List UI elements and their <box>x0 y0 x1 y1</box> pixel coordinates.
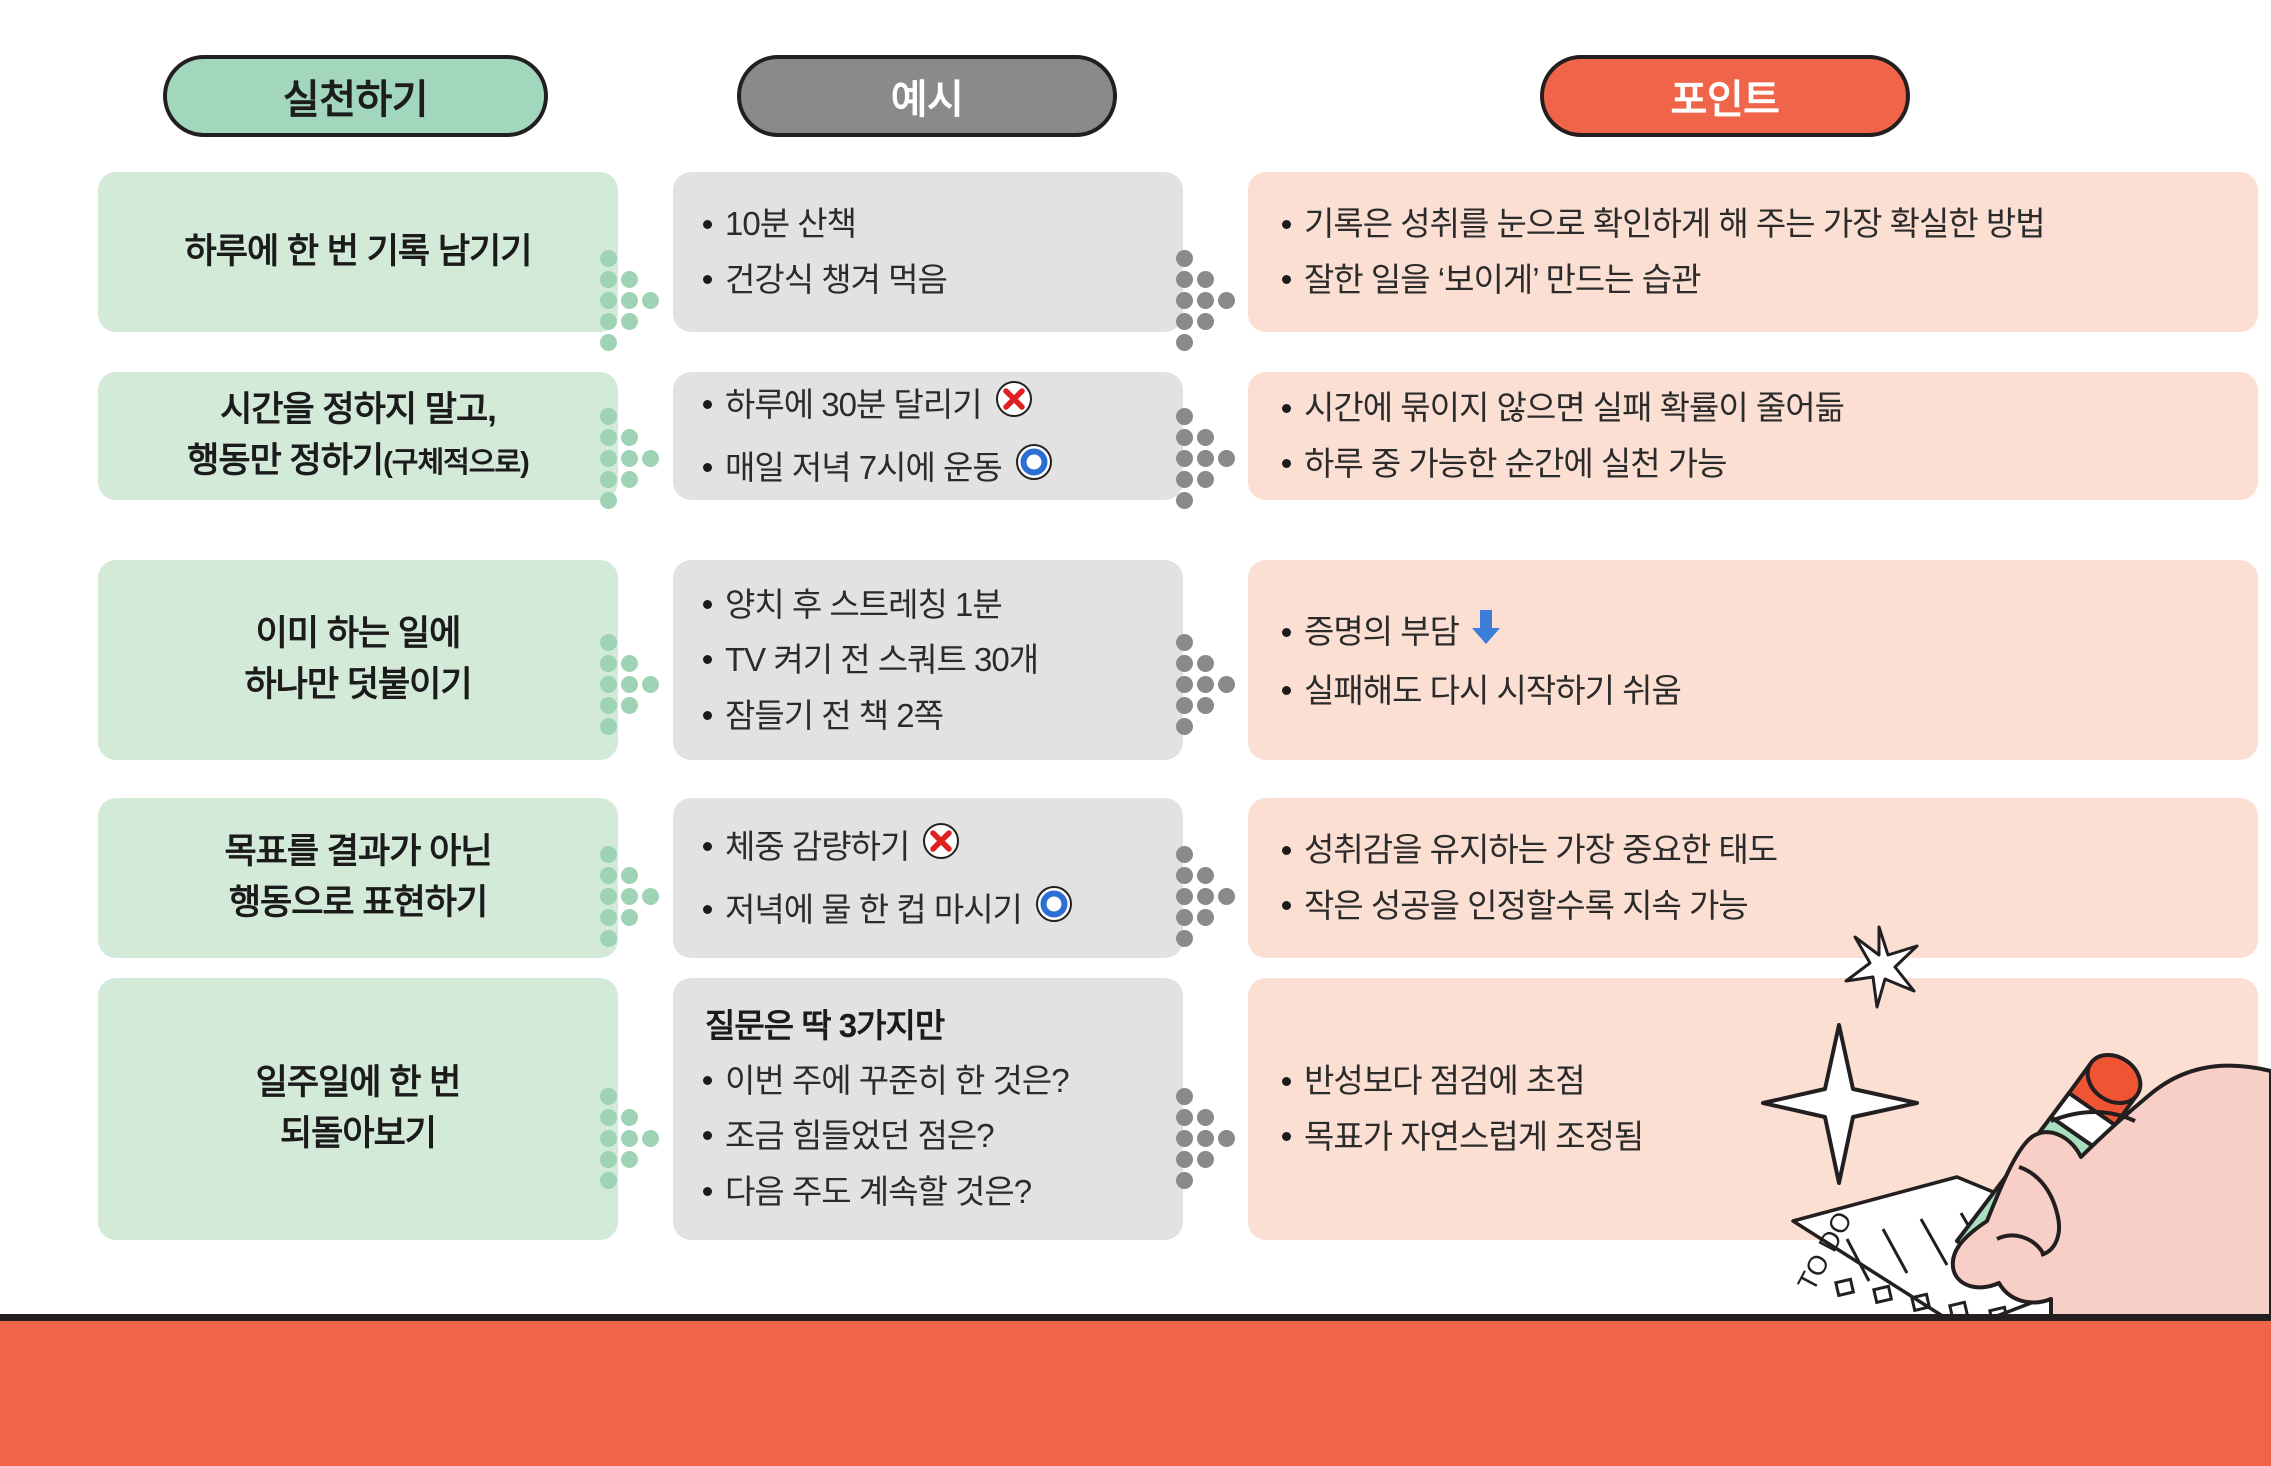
example-list-item-text: 다음 주도 계속할 것은? <box>725 1170 1031 1214</box>
bullet-icon <box>703 220 712 229</box>
x-mark-icon <box>921 821 961 872</box>
bullet-icon <box>703 905 712 914</box>
row: 목표를 결과가 아닌행동으로 표현하기체중 감량하기저녁에 물 한 컵 마시기성… <box>0 798 2271 958</box>
bullet-icon <box>703 842 712 851</box>
practice-line-2: 행동만 정하기 <box>187 441 383 480</box>
example-card[interactable]: 하루에 30분 달리기매일 저녁 7시에 운동 <box>673 372 1183 500</box>
bullet-icon <box>1282 628 1291 637</box>
bullet-icon <box>1282 459 1291 468</box>
point-list-item-text: 목표가 자연스럽게 조정됨 <box>1304 1115 1643 1159</box>
practice-line-2: 하나만 덧붙이기 <box>244 665 471 704</box>
point-list-item-text: 기록은 성취를 눈으로 확인하게 해 주는 가장 확실한 방법 <box>1304 202 2045 246</box>
bullet-icon <box>703 1131 712 1140</box>
example-list-item-text: 양치 후 스트레칭 1분 <box>725 583 1002 627</box>
connector-dots-example-to-point <box>1176 250 1232 354</box>
footer-bar <box>0 1314 2271 1466</box>
point-list-item: 반성보다 점검에 초점 <box>1282 1059 2224 1103</box>
point-list-item: 증명의 부담 <box>1282 608 2224 657</box>
row: 일주일에 한 번되돌아보기질문은 딱 3가지만이번 주에 꾸준히 한 것은?조금… <box>0 978 2271 1240</box>
point-list-item-text: 증명의 부담 <box>1304 610 1459 654</box>
example-list-item: 건강식 챙겨 먹음 <box>703 258 1153 302</box>
practice-card[interactable]: 일주일에 한 번되돌아보기 <box>98 978 618 1240</box>
row: 시간을 정하지 말고,행동만 정하기(구체적으로)하루에 30분 달리기매일 저… <box>0 372 2271 500</box>
example-list-item: 잠들기 전 책 2쪽 <box>703 694 1153 738</box>
example-list-item: 다음 주도 계속할 것은? <box>703 1170 1153 1214</box>
practice-card[interactable]: 하루에 한 번 기록 남기기 <box>98 172 618 332</box>
bullet-icon <box>703 400 712 409</box>
x-mark-icon <box>994 379 1034 430</box>
practice-line-1: 시간을 정하지 말고, <box>220 390 496 429</box>
example-list-item: 매일 저녁 7시에 운동 <box>703 442 1153 493</box>
example-card[interactable]: 양치 후 스트레칭 1분TV 켜기 전 스쿼트 30개잠들기 전 책 2쪽 <box>673 560 1183 760</box>
example-card[interactable]: 10분 산책건강식 챙겨 먹음 <box>673 172 1183 332</box>
example-list-item: 양치 후 스트레칭 1분 <box>703 583 1153 627</box>
point-card[interactable]: 증명의 부담실패해도 다시 시작하기 쉬움 <box>1248 560 2258 760</box>
bullet-icon <box>1282 1132 1291 1141</box>
bullet-icon <box>1282 686 1291 695</box>
practice-sub: (구체적으로) <box>383 447 529 479</box>
connector-dots-practice-to-example <box>600 408 656 512</box>
point-list-item-text: 하루 중 가능한 순간에 실천 가능 <box>1304 442 1727 486</box>
example-list-item-text: 하루에 30분 달리기 <box>725 383 982 427</box>
point-list-item-text: 시간에 묶이지 않으면 실패 확률이 줄어듦 <box>1304 386 1844 430</box>
connector-dots-practice-to-example <box>600 1088 656 1192</box>
practice-card[interactable]: 시간을 정하지 말고,행동만 정하기(구체적으로) <box>98 372 618 500</box>
practice-card[interactable]: 이미 하는 일에하나만 덧붙이기 <box>98 560 618 760</box>
practice-card-text: 목표를 결과가 아닌행동으로 표현하기 <box>224 827 491 929</box>
point-list-item: 작은 성공을 인정할수록 지속 가능 <box>1282 884 2224 928</box>
example-list-item-text: 조금 힘들었던 점은? <box>725 1114 994 1158</box>
bullet-icon <box>1282 220 1291 229</box>
rows-container: 하루에 한 번 기록 남기기10분 산책건강식 챙겨 먹음기록은 성취를 눈으로… <box>0 0 2271 1300</box>
bullet-icon <box>703 1187 712 1196</box>
practice-card[interactable]: 목표를 결과가 아닌행동으로 표현하기 <box>98 798 618 958</box>
bullet-icon <box>1282 901 1291 910</box>
point-card[interactable]: 반성보다 점검에 초점목표가 자연스럽게 조정됨 <box>1248 978 2258 1240</box>
bullet-icon <box>703 711 712 720</box>
example-list-item-text: 매일 저녁 7시에 운동 <box>725 446 1002 490</box>
bullet-icon <box>703 655 712 664</box>
point-list-item-text: 실패해도 다시 시작하기 쉬움 <box>1304 669 1681 713</box>
bullet-icon <box>703 600 712 609</box>
point-card[interactable]: 기록은 성취를 눈으로 확인하게 해 주는 가장 확실한 방법잘한 일을 ‘보이… <box>1248 172 2258 332</box>
example-list-item: 조금 힘들었던 점은? <box>703 1114 1153 1158</box>
practice-line-1: 이미 하는 일에 <box>256 614 461 653</box>
connector-dots-example-to-point <box>1176 408 1232 512</box>
point-list-item: 목표가 자연스럽게 조정됨 <box>1282 1115 2224 1159</box>
example-list-item-text: 저녁에 물 한 컵 마시기 <box>725 888 1022 932</box>
point-list-item: 시간에 묶이지 않으면 실패 확률이 줄어듦 <box>1282 386 2224 430</box>
example-list-item: 저녁에 물 한 컵 마시기 <box>703 884 1153 935</box>
point-list-item-text: 성취감을 유지하는 가장 중요한 태도 <box>1304 828 1777 872</box>
row: 하루에 한 번 기록 남기기10분 산책건강식 챙겨 먹음기록은 성취를 눈으로… <box>0 172 2271 332</box>
point-list-item: 기록은 성취를 눈으로 확인하게 해 주는 가장 확실한 방법 <box>1282 202 2224 246</box>
connector-dots-practice-to-example <box>600 634 656 738</box>
practice-line-1: 목표를 결과가 아닌 <box>224 832 491 871</box>
bullet-icon <box>1282 404 1291 413</box>
example-list-item: 체중 감량하기 <box>703 821 1153 872</box>
point-list-item: 하루 중 가능한 순간에 실천 가능 <box>1282 442 2224 486</box>
point-card[interactable]: 시간에 묶이지 않으면 실패 확률이 줄어듦하루 중 가능한 순간에 실천 가능 <box>1248 372 2258 500</box>
example-list-item-text: 10분 산책 <box>725 202 856 246</box>
practice-line-2: 행동으로 표현하기 <box>229 883 487 922</box>
example-heading: 질문은 딱 3가지만 <box>705 999 1153 1047</box>
example-list-item: 10분 산책 <box>703 202 1153 246</box>
example-list-item-text: TV 켜기 전 스쿼트 30개 <box>725 638 1038 682</box>
point-list-item-text: 작은 성공을 인정할수록 지속 가능 <box>1304 884 1748 928</box>
example-card[interactable]: 체중 감량하기저녁에 물 한 컵 마시기 <box>673 798 1183 958</box>
example-list-item: TV 켜기 전 스쿼트 30개 <box>703 638 1153 682</box>
point-list-item-text: 반성보다 점검에 초점 <box>1304 1059 1585 1103</box>
practice-card-text: 시간을 정하지 말고,행동만 정하기(구체적으로) <box>187 385 529 487</box>
point-list-item: 실패해도 다시 시작하기 쉬움 <box>1282 669 2224 713</box>
example-card[interactable]: 질문은 딱 3가지만이번 주에 꾸준히 한 것은?조금 힘들었던 점은?다음 주… <box>673 978 1183 1240</box>
point-list-item: 성취감을 유지하는 가장 중요한 태도 <box>1282 828 2224 872</box>
o-mark-icon <box>1014 442 1054 493</box>
connector-dots-example-to-point <box>1176 846 1232 950</box>
bullet-icon <box>1282 1077 1291 1086</box>
down-arrow-icon <box>1469 608 1503 657</box>
infographic-page: 실천하기 예시 포인트 하루에 한 번 기록 남기기10분 산책건강식 챙겨 먹… <box>0 0 2271 1466</box>
bullet-icon <box>703 463 712 472</box>
bullet-icon <box>1282 275 1291 284</box>
practice-card-text: 일주일에 한 번되돌아보기 <box>256 1058 461 1160</box>
example-list-item-text: 건강식 챙겨 먹음 <box>725 258 947 302</box>
practice-line-1: 하루에 한 번 기록 남기기 <box>185 232 532 271</box>
o-mark-icon <box>1034 884 1074 935</box>
bullet-icon <box>703 1076 712 1085</box>
practice-card-text: 하루에 한 번 기록 남기기 <box>185 227 532 278</box>
practice-line-2: 되돌아보기 <box>280 1114 436 1153</box>
example-list-item-text: 이번 주에 꾸준히 한 것은? <box>725 1059 1069 1103</box>
example-list-item-text: 잠들기 전 책 2쪽 <box>725 694 943 738</box>
bullet-icon <box>1282 846 1291 855</box>
bullet-icon <box>703 275 712 284</box>
example-list-item: 하루에 30분 달리기 <box>703 379 1153 430</box>
connector-dots-practice-to-example <box>600 250 656 354</box>
row: 이미 하는 일에하나만 덧붙이기양치 후 스트레칭 1분TV 켜기 전 스쿼트 … <box>0 560 2271 760</box>
example-list-item-text: 체중 감량하기 <box>725 825 909 869</box>
connector-dots-example-to-point <box>1176 1088 1232 1192</box>
point-card[interactable]: 성취감을 유지하는 가장 중요한 태도작은 성공을 인정할수록 지속 가능 <box>1248 798 2258 958</box>
practice-line-1: 일주일에 한 번 <box>256 1063 461 1102</box>
connector-dots-practice-to-example <box>600 846 656 950</box>
practice-card-text: 이미 하는 일에하나만 덧붙이기 <box>244 609 471 711</box>
connector-dots-example-to-point <box>1176 634 1232 738</box>
example-list-item: 이번 주에 꾸준히 한 것은? <box>703 1059 1153 1103</box>
point-list-item: 잘한 일을 ‘보이게’ 만드는 습관 <box>1282 258 2224 302</box>
point-list-item-text: 잘한 일을 ‘보이게’ 만드는 습관 <box>1304 258 1700 302</box>
